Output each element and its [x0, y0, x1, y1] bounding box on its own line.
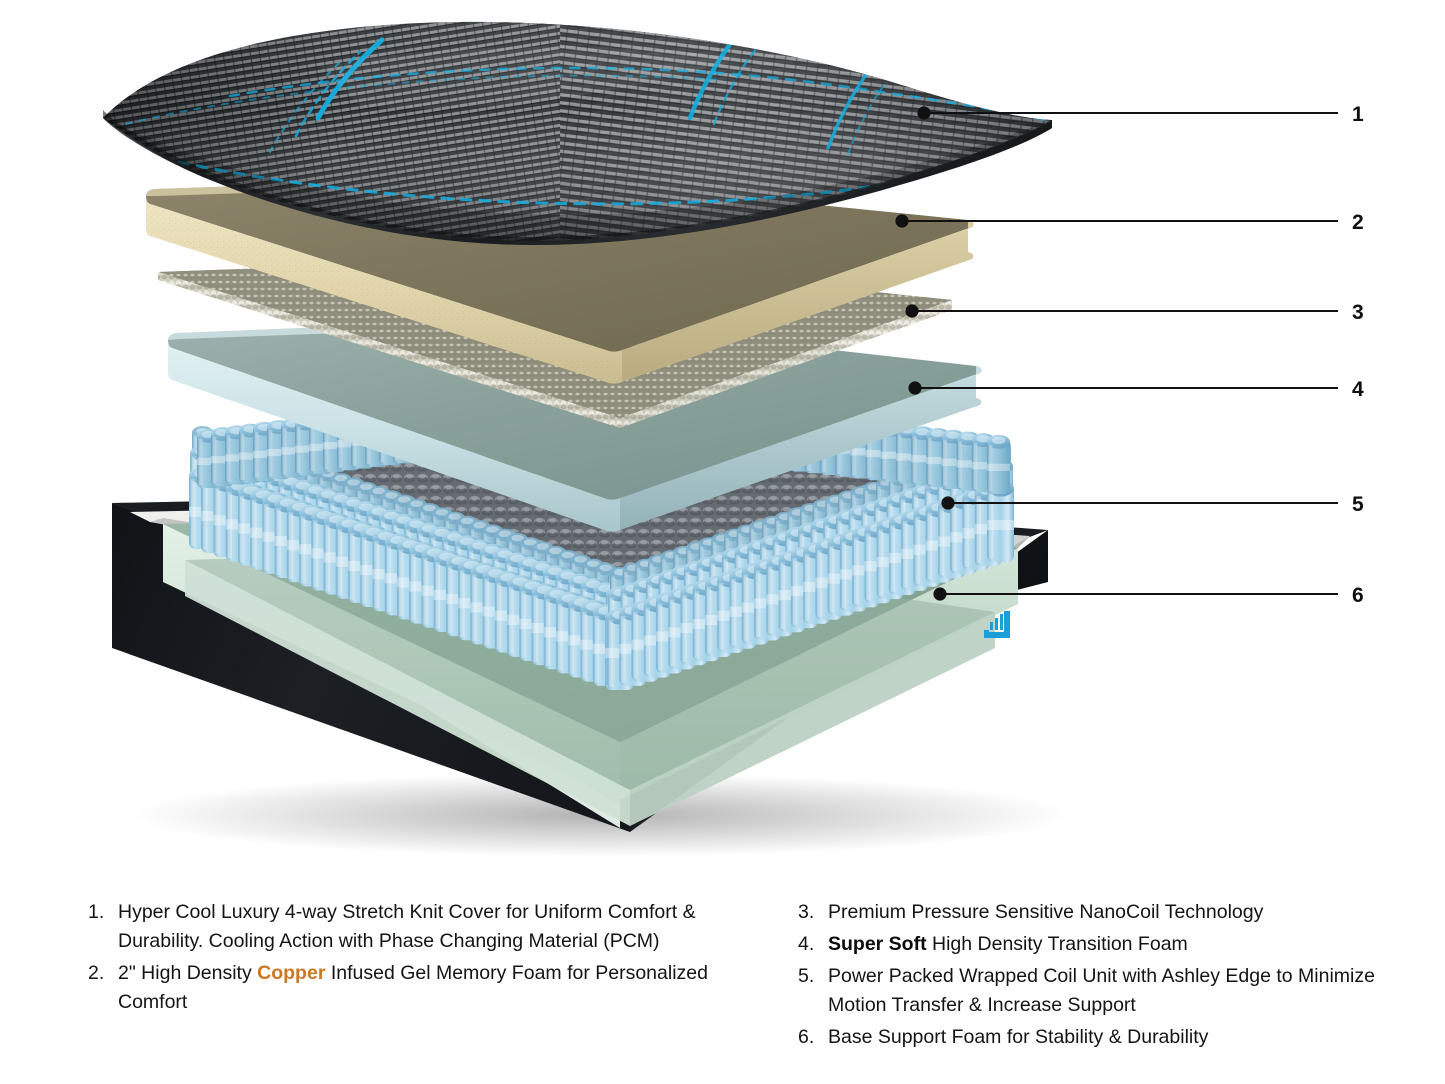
legend-item-text: Power Packed Wrapped Coil Unit with Ashl… [828, 962, 1378, 1020]
legend-item-number: 2. [88, 959, 118, 988]
legend-item: 6.Base Support Foam for Stability & Dura… [798, 1023, 1378, 1052]
exploded-mattress-diagram: 1 2 3 4 5 6 [0, 0, 1445, 880]
legend-item-number: 1. [88, 898, 118, 927]
legend-item-text: Premium Pressure Sensitive NanoCoil Tech… [828, 898, 1378, 927]
legend-column-right: 3.Premium Pressure Sensitive NanoCoil Te… [798, 898, 1378, 1055]
callout-number-2: 2 [1352, 212, 1364, 233]
legend-item-number: 4. [798, 930, 828, 959]
legend: 1.Hyper Cool Luxury 4-way Stretch Knit C… [0, 898, 1445, 1084]
callout-number-4: 4 [1352, 379, 1364, 400]
legend-text-segment: 2" High Density [118, 962, 257, 984]
legend-item: 4.Super Soft High Density Transition Foa… [798, 930, 1378, 959]
legend-column-left: 1.Hyper Cool Luxury 4-way Stretch Knit C… [88, 898, 778, 1020]
legend-item: 1.Hyper Cool Luxury 4-way Stretch Knit C… [88, 898, 778, 956]
legend-item-text: Hyper Cool Luxury 4-way Stretch Knit Cov… [118, 898, 778, 956]
legend-item-text: Base Support Foam for Stability & Durabi… [828, 1023, 1378, 1052]
legend-item-text: 2" High Density Copper Infused Gel Memor… [118, 959, 778, 1017]
callout-number-3: 3 [1352, 302, 1364, 323]
callout-number-5: 5 [1352, 494, 1364, 515]
legend-text-segment: Premium Pressure Sensitive NanoCoil Tech… [828, 901, 1263, 923]
legend-item: 3.Premium Pressure Sensitive NanoCoil Te… [798, 898, 1378, 927]
mattress-layer-diagram-page: 1 2 3 4 5 6 1.Hyper Cool Luxury 4-way St… [0, 0, 1445, 1084]
callout-number-1: 1 [1352, 104, 1364, 125]
legend-item-text: Super Soft High Density Transition Foam [828, 930, 1378, 959]
wrapped-coil [987, 435, 1010, 494]
legend-item: 2.2" High Density Copper Infused Gel Mem… [88, 959, 778, 1017]
callout-number-6: 6 [1352, 585, 1364, 606]
diagram-svg [0, 0, 1445, 880]
leader-3 [905, 304, 1338, 317]
legend-text-segment: Hyper Cool Luxury 4-way Stretch Knit Cov… [118, 901, 696, 952]
legend-text-segment: Power Packed Wrapped Coil Unit with Ashl… [828, 965, 1375, 1016]
legend-text-segment: High Density Transition Foam [927, 933, 1188, 955]
legend-item-number: 6. [798, 1023, 828, 1052]
copper-highlight: Copper [257, 962, 325, 984]
bold-highlight: Super Soft [828, 933, 927, 955]
legend-item: 5.Power Packed Wrapped Coil Unit with As… [798, 962, 1378, 1020]
legend-text-segment: Base Support Foam for Stability & Durabi… [828, 1026, 1208, 1048]
legend-item-number: 3. [798, 898, 828, 927]
legend-item-number: 5. [798, 962, 828, 991]
